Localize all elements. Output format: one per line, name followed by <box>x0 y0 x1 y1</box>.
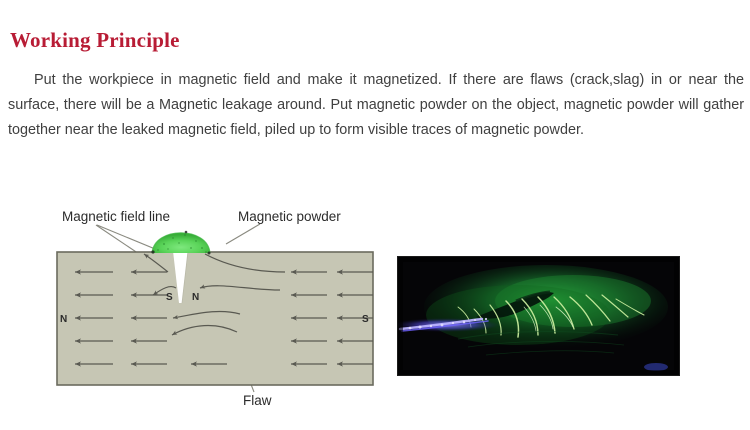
pole-label-right: S <box>362 314 369 325</box>
corner-blue-spot <box>644 363 668 371</box>
diagram-canvas: N S S N Magnetic field line Magnetic pow… <box>40 196 390 424</box>
label-flaw: Flaw <box>243 393 272 408</box>
photo-canvas <box>398 257 679 375</box>
principle-diagram: N S S N Magnetic field line Magnetic pow… <box>40 196 390 424</box>
label-magnetic-field-line: Magnetic field line <box>62 209 170 224</box>
principle-paragraph: Put the workpiece in magnetic field and … <box>8 68 744 143</box>
crack-pole-label-right: N <box>192 292 199 303</box>
label-magnetic-powder: Magnetic powder <box>238 209 341 224</box>
page-title: Working Principle <box>10 28 180 53</box>
pole-label-left: N <box>60 314 67 325</box>
crack-pole-label-left: S <box>166 292 173 303</box>
figure-row: N S S N Magnetic field line Magnetic pow… <box>0 196 750 424</box>
magnetic-powder-mound <box>151 231 210 255</box>
mpi-photograph <box>397 256 680 376</box>
